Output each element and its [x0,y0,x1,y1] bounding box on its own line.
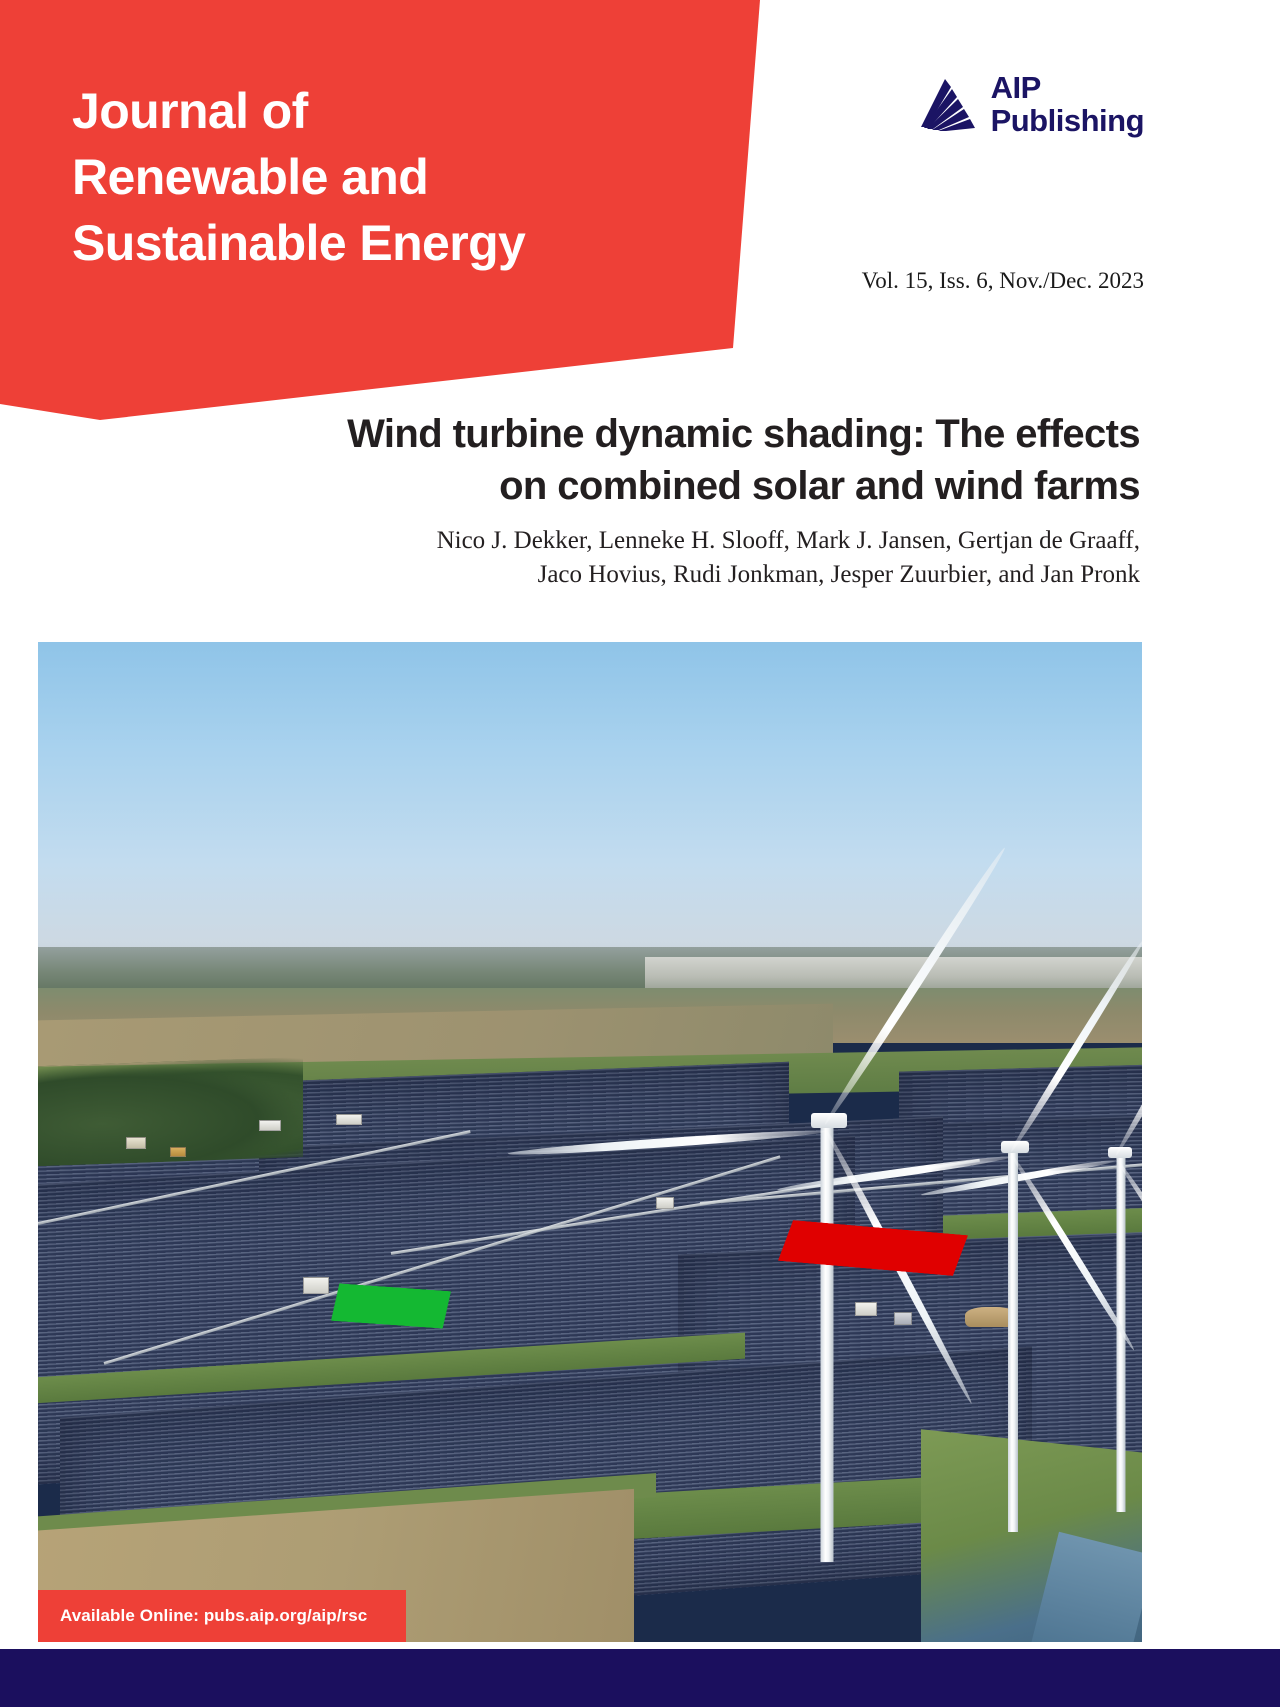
article-title-line-1: Wind turbine dynamic shading: The effect… [140,408,1140,460]
turbine-mast [820,1116,833,1562]
wind-turbine-2 [965,912,1061,1532]
cover-photo: Available Online: pubs.aip.org/aip/rsc [38,642,1142,1642]
wind-turbine-1 [767,842,887,1562]
inverter-station-a [303,1277,329,1294]
journal-title-line-1: Journal of [72,78,712,144]
journal-title-line-3: Sustainable Energy [72,210,712,276]
journal-cover: Journal of Renewable and Sustainable Ene… [0,0,1280,1707]
article-title-line-2: on combined solar and wind farms [140,460,1140,512]
journal-title: Journal of Renewable and Sustainable Ene… [72,78,712,276]
turbine-mast [1008,1148,1018,1532]
author-line-1: Nico J. Dekker, Lenneke H. Slooff, Mark … [200,524,1140,558]
aip-publishing-wordmark: AIP Publishing [991,72,1144,137]
wind-turbine-3 [1076,932,1142,1512]
cover-photo-scene [38,642,1142,1642]
author-line-2: Jaco Hovius, Rudi Jonkman, Jesper Zuurbi… [200,558,1140,592]
site-container-f [170,1147,186,1157]
inverter-station-d [894,1312,912,1325]
site-container-h [336,1114,362,1125]
site-container-e [126,1137,146,1149]
inverter-station-b [656,1197,674,1209]
logo-word-publishing: Publishing [991,105,1144,138]
footer-strip [0,1649,1280,1707]
author-list: Nico J. Dekker, Lenneke H. Slooff, Mark … [200,524,1140,591]
volume-issue-line: Vol. 15, Iss. 6, Nov./Dec. 2023 [544,268,1144,294]
logo-word-aip: AIP [991,72,1144,105]
article-title: Wind turbine dynamic shading: The effect… [140,408,1140,512]
journal-title-line-2: Renewable and [72,144,712,210]
aip-fan-logo-icon [915,77,977,133]
turbine-blade-1 [1113,972,1142,1157]
aip-publishing-logo: AIP Publishing [915,72,1144,137]
available-online-tag: Available Online: pubs.aip.org/aip/rsc [38,1590,406,1642]
site-container-g [259,1120,281,1131]
available-online-text: Available Online: pubs.aip.org/aip/rsc [60,1606,367,1626]
